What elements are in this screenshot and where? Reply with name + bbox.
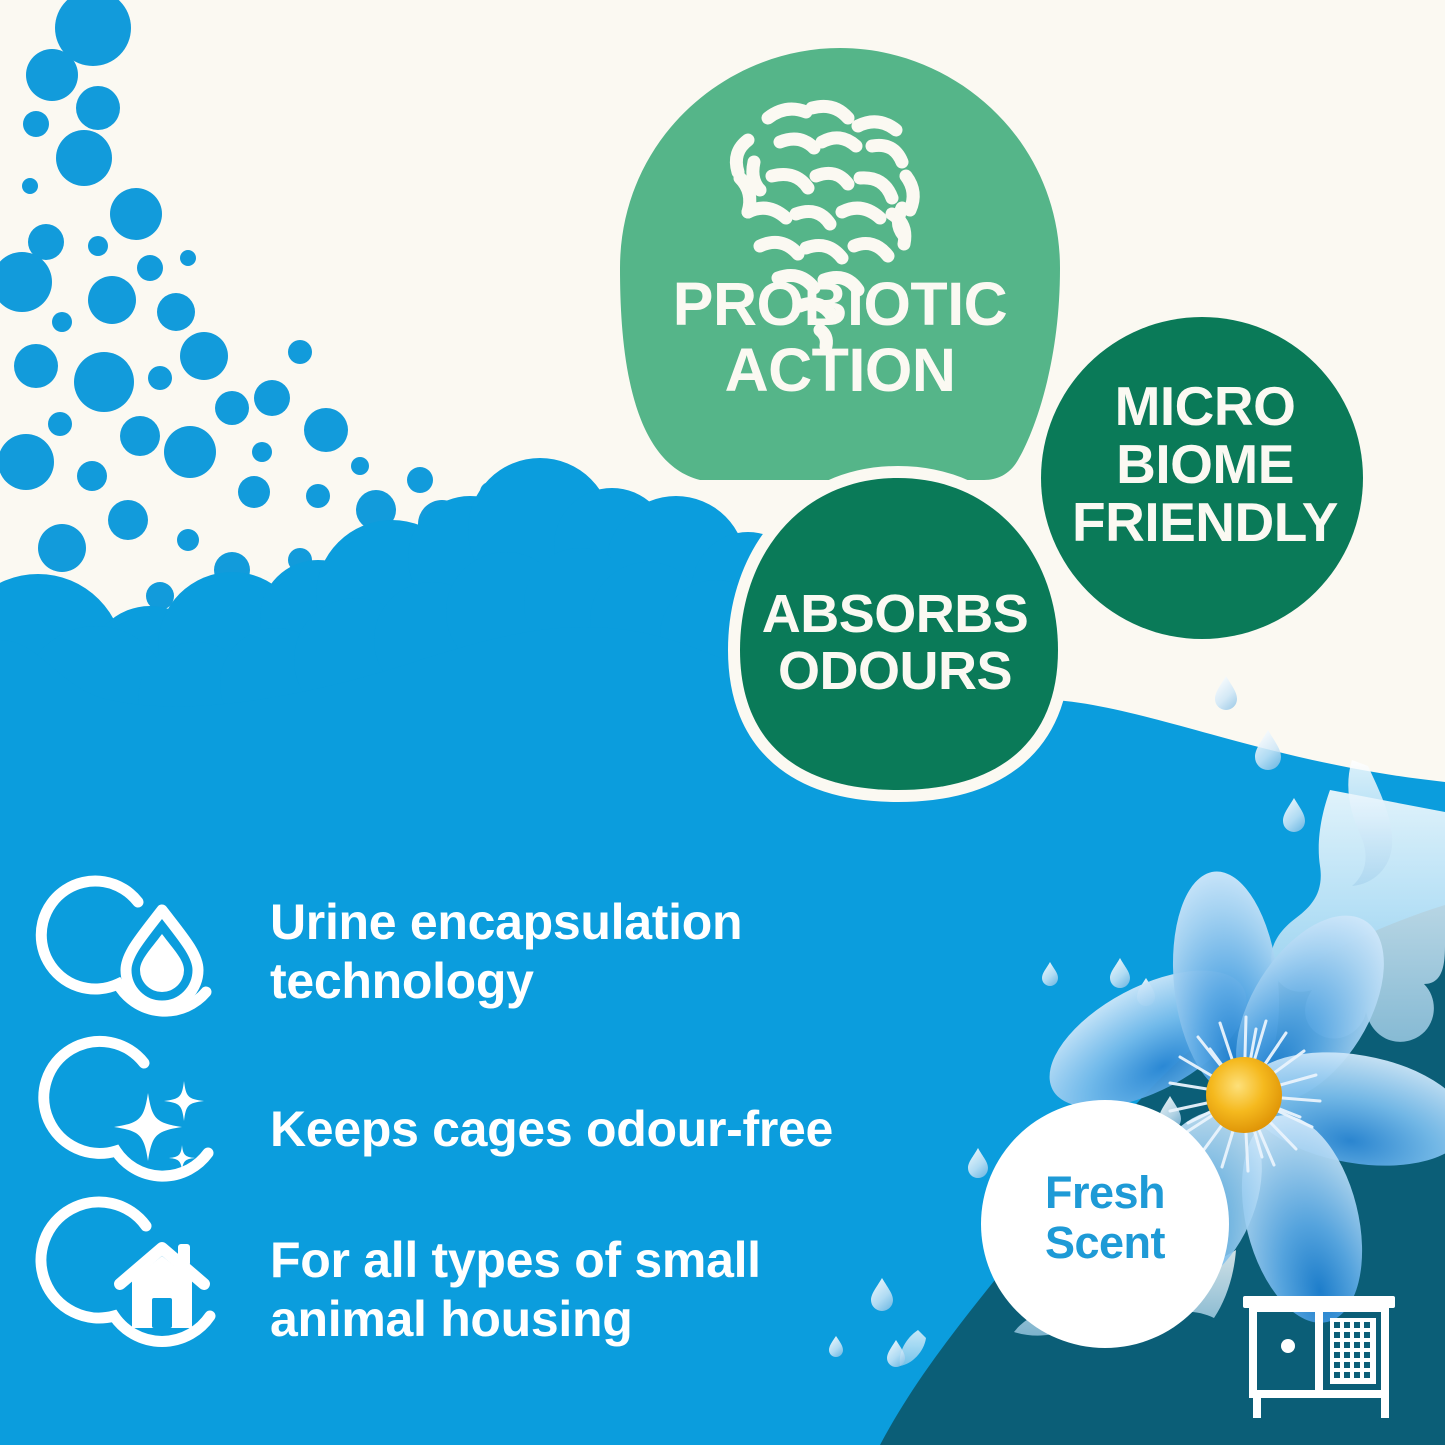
house-in-ring-icon-slot [98,1226,226,1354]
absorbs-odours-badge-label: ABSORBS ODOURS [735,586,1055,700]
microbiome-badge-label: MICRO BIOME FRIENDLY [1020,378,1390,551]
feature-label: Urine encapsulation technology [270,893,742,1011]
probiotic-badge-label: PROBIOTIC ACTION [620,272,1060,404]
water-drop-in-ring-icon-slot [98,888,226,1016]
fresh-scent-label: Fresh Scent [1005,1168,1205,1269]
marketing-graphic-canvas: PROBIOTIC ACTION MICRO BIOME FRIENDLY AB… [0,0,1445,1445]
sparkle-in-ring-icon-slot [98,1065,226,1193]
feature-small-animal-housing: For all types of small animal housing [98,1226,761,1354]
feature-label: For all types of small animal housing [270,1231,761,1349]
feature-label: Keeps cages odour-free [270,1100,833,1159]
feature-keeps-cages-odour-free: Keeps cages odour-free [98,1065,833,1193]
feature-urine-encapsulation: Urine encapsulation technology [98,888,742,1016]
